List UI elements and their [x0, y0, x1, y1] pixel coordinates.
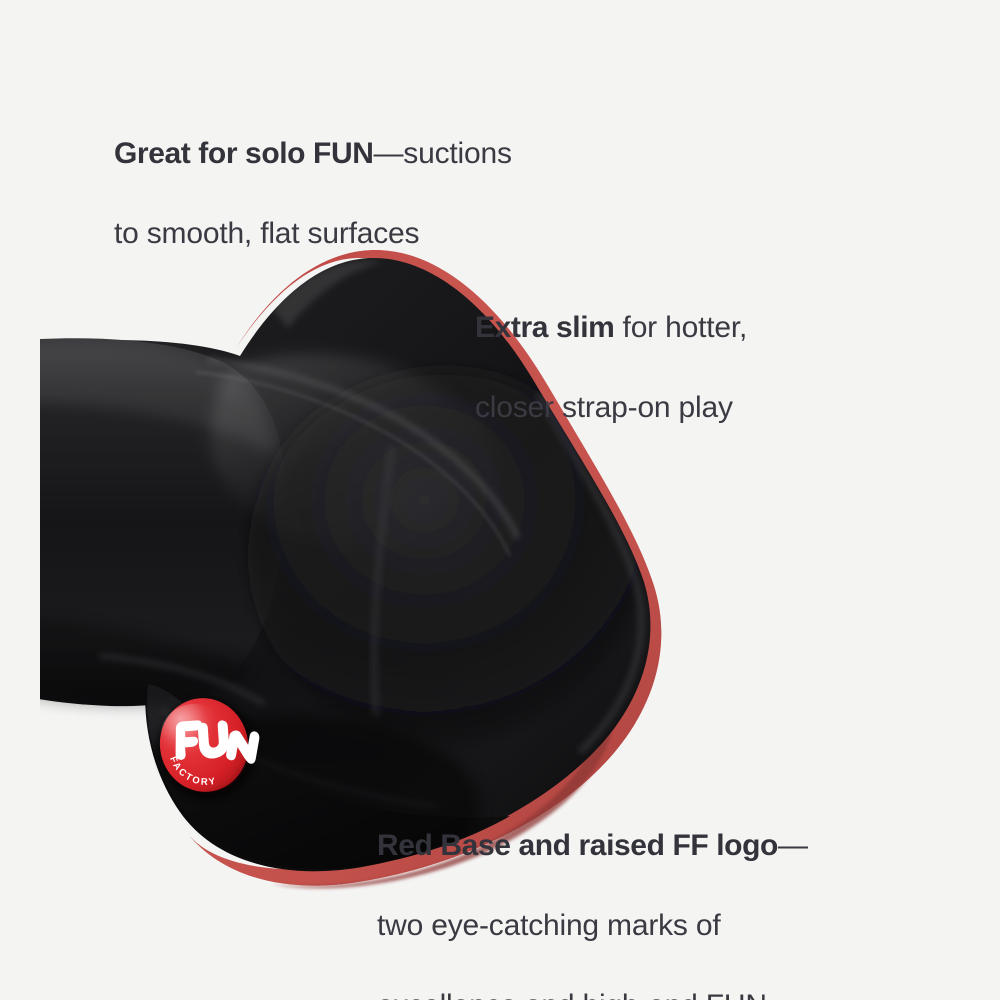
callout-logo-line-1-rest: — [778, 829, 808, 862]
callout-suction: Great for solo FUN—suctions to smooth, f… [114, 94, 674, 294]
fun-wordmark [173, 716, 262, 770]
callout-logo-line-2: two eye-catching marks of [377, 906, 917, 946]
callout-logo-lead: Red Base and raised FF logo [377, 829, 778, 862]
callout-slim: Extra slim for hotter, closer strap-on p… [475, 268, 905, 468]
callout-logo: Red Base and raised FF logo— two eye-cat… [377, 786, 917, 1000]
callout-slim-lead: Extra slim [475, 311, 614, 344]
callout-logo-line-3: excellence and high-end FUN [377, 986, 917, 1000]
svg-text:FACTORY: FACTORY [167, 748, 219, 796]
callout-suction-line-1-rest: —suctions [374, 137, 512, 170]
callout-suction-line-1: Great for solo FUN—suctions [114, 134, 674, 174]
callout-suction-line-2: to smooth, flat surfaces [114, 214, 674, 254]
callout-logo-line-1: Red Base and raised FF logo— [377, 826, 917, 866]
product-feature-callout-page: FACTORY Great for solo FUN—suctions to s… [0, 0, 1000, 1000]
fun-factory-logo-badge: FACTORY [148, 686, 274, 810]
callout-slim-line-2: closer strap-on play [475, 388, 905, 428]
callout-suction-lead: Great for solo FUN [114, 137, 374, 170]
callout-slim-line-1: Extra slim for hotter, [475, 308, 905, 348]
factory-arc-text: FACTORY [166, 741, 242, 796]
callout-slim-line-1-rest: for hotter, [614, 311, 747, 344]
